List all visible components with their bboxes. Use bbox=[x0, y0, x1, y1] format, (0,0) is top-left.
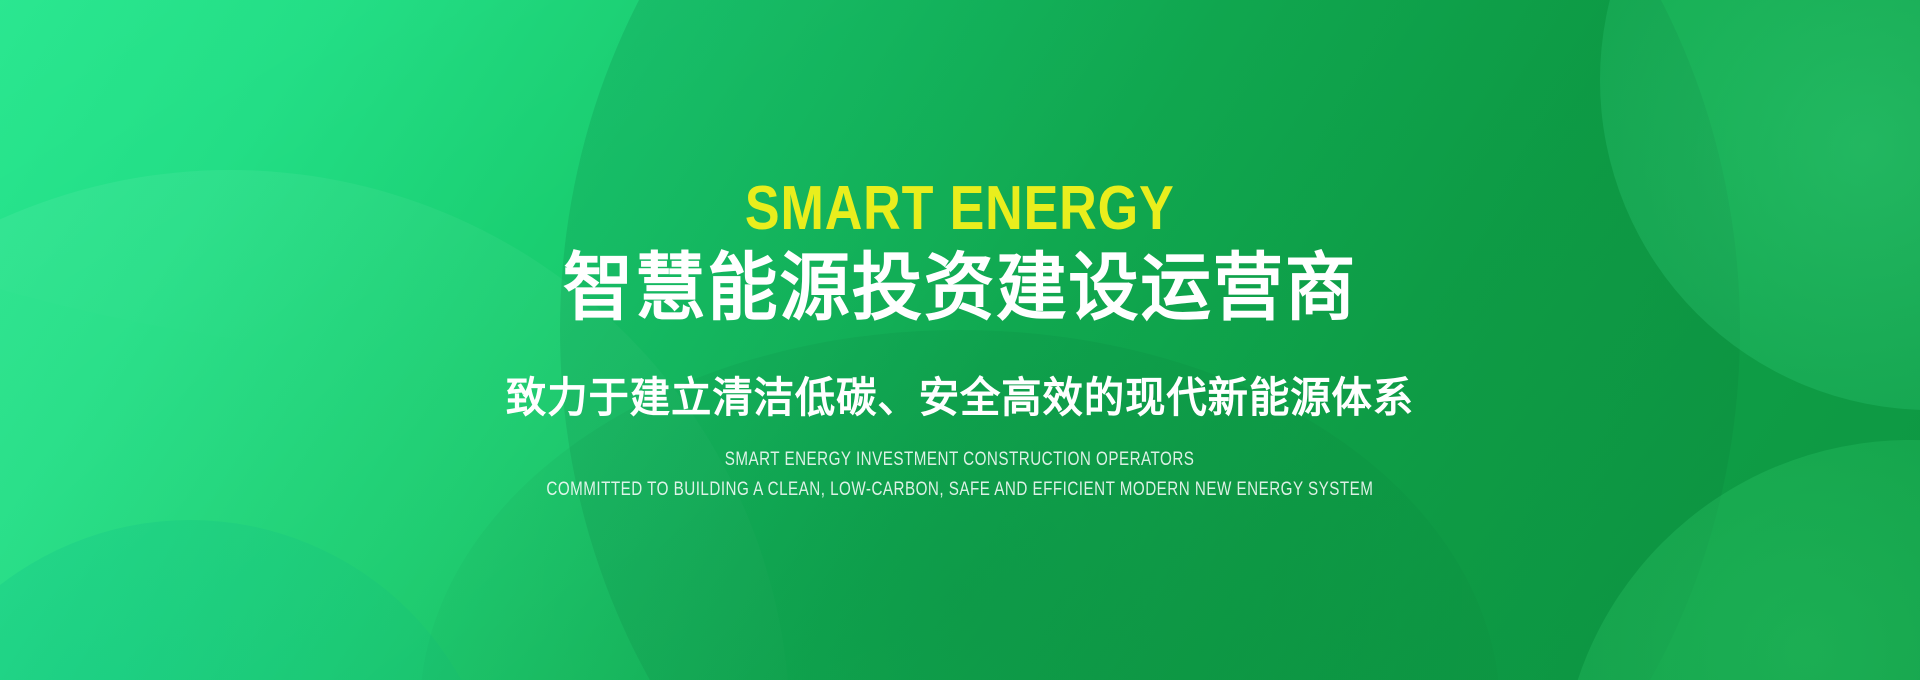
banner-eyebrow-smart-energy: SMART ENERGY bbox=[745, 178, 1175, 240]
smart-energy-hero-banner: SMART ENERGY 智慧能源投资建设运营商 致力于建立清洁低碳、安全高效的… bbox=[0, 0, 1920, 680]
banner-text-block: SMART ENERGY 智慧能源投资建设运营商 致力于建立清洁低碳、安全高效的… bbox=[0, 0, 1920, 680]
banner-headline: 智慧能源投资建设运营商 bbox=[563, 248, 1357, 328]
banner-subheadline: 致力于建立清洁低碳、安全高效的现代新能源体系 bbox=[506, 374, 1414, 422]
banner-tagline-line-2: COMMITTED TO BUILDING A CLEAN, LOW-CARBO… bbox=[546, 478, 1373, 502]
banner-tagline-group: SMART ENERGY INVESTMENT CONSTRUCTION OPE… bbox=[443, 448, 1477, 502]
banner-tagline-line-1: SMART ENERGY INVESTMENT CONSTRUCTION OPE… bbox=[725, 448, 1195, 472]
